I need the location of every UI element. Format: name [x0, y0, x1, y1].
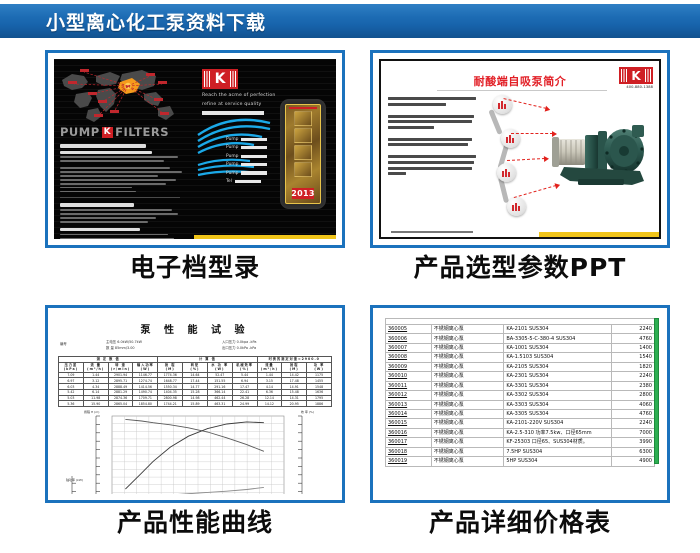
y-axis-right-label: 效 率 (%)	[301, 410, 314, 414]
table-row: 5.3615.902865.041854.801744.2115.89463.3…	[59, 401, 332, 407]
gold-plaque: 2013	[280, 99, 326, 209]
price-cell-price: 4760	[611, 409, 654, 418]
catalog-frame: PUMP K FILTERS	[45, 50, 345, 248]
catalog-image: PUMP K FILTERS	[54, 59, 336, 239]
price-cell-name: 不锈钢离心泵	[431, 343, 504, 352]
cover-bottom-accent	[194, 235, 336, 239]
page-header-banner: 小型离心化工泵资料下载	[0, 4, 700, 38]
price-cell-name: 不锈钢离心泵	[431, 372, 504, 381]
price-cell-name: 不锈钢离心泵	[431, 447, 504, 456]
price-cell-name: 不锈钢离心泵	[431, 334, 504, 343]
grid-cell-price[interactable]: 360005不锈钢离心泵KA-2101 SUS3042240360006不锈钢离…	[370, 305, 680, 536]
plaque-inner: 2013	[285, 104, 321, 204]
company-name-block	[60, 144, 190, 162]
feature-key: Pump	[226, 171, 238, 176]
caption-ppt: 产品选型参数PPT	[370, 255, 670, 281]
price-cell-name: 不锈钢离心泵	[431, 353, 504, 362]
table-row[interactable]: 360011不锈钢离心泵KA-3301 SUS3042380	[386, 381, 655, 390]
price-cell-name: 不锈钢离心泵	[431, 419, 504, 428]
price-cell-code: 360017	[386, 438, 432, 447]
k-logo-icon: K	[202, 69, 238, 89]
price-cell-code: 360010	[386, 372, 432, 381]
feature-key: Tel	[226, 179, 232, 184]
price-cell-spec: KA-2.5-310 功率7.5kw、口径65mm	[504, 428, 612, 437]
chart-icon	[501, 129, 520, 148]
chart-icon	[497, 163, 516, 182]
table-cell: 1744.21	[158, 401, 183, 407]
table-cell: 1886	[307, 401, 332, 407]
price-cell-name: 不锈钢离心泵	[431, 438, 504, 447]
feature-value	[241, 138, 267, 141]
price-cell-name: 不锈钢离心泵	[431, 325, 504, 334]
price-table-body: 360005不锈钢离心泵KA-2101 SUS3042240360006不锈钢离…	[386, 325, 655, 467]
price-cell-code: 360015	[386, 419, 432, 428]
list-item: Tel	[226, 179, 267, 184]
feature-value	[241, 146, 267, 149]
caption-price: 产品详细价格表	[370, 510, 670, 536]
branch-block-2	[60, 228, 190, 239]
plaque-char	[294, 111, 312, 126]
ppt-text-block	[388, 97, 476, 106]
price-cell-name: 不锈钢离心泵	[431, 400, 504, 409]
table-row[interactable]: 360013不锈钢离心泵KA-3303 SUS3044060	[386, 400, 655, 409]
arrow-2	[511, 133, 553, 134]
price-cell-price: 4760	[611, 334, 654, 343]
col-header-4: 扬 程(M)	[158, 362, 183, 372]
price-cell-code: 360016	[386, 428, 432, 437]
feature-value	[241, 163, 267, 166]
list-item: Pump	[226, 145, 267, 150]
price-cell-price: 4900	[611, 457, 654, 466]
price-cell-spec: KA-1.5103 SUS304	[504, 353, 612, 362]
cover-feature-list: Pump Pump Pump Pump Pump Tel	[226, 137, 267, 187]
col-header-1: 流 量(m³/h)	[83, 362, 108, 372]
performance-image: 泵 性 能 试 验 编号 主电压 6.0kW/50.7kW 数 量 85mm/3…	[54, 314, 336, 494]
price-cell-code: 360011	[386, 381, 432, 390]
price-cell-price: 7000	[611, 428, 654, 437]
meta-right-2: 出口压力 0.0kPa -kPa	[222, 345, 256, 350]
caption-performance: 产品性能曲线	[45, 510, 345, 536]
price-cell-price: 6300	[611, 447, 654, 456]
meta-mid-1: 主电压 6.0kW/50.7kW	[106, 339, 142, 344]
page-title: 小型离心化工泵资料下载	[46, 8, 266, 35]
feature-key: Pump	[226, 162, 238, 167]
price-sheet: 360005不锈钢离心泵KA-2101 SUS3042240360006不锈钢离…	[379, 314, 661, 494]
ppt-footer-text	[391, 231, 473, 233]
performance-graph: 扬程 H (m) 效 率 (%) 轴功率 (kW)	[54, 410, 336, 494]
price-cell-spec: KA-2101 SUS304	[504, 325, 612, 334]
price-cell-spec: KA-3303 SUS304	[504, 400, 612, 409]
price-cell-name: 不锈钢离心泵	[431, 409, 504, 418]
price-cell-spec: 5HP SUS304	[504, 457, 612, 466]
price-cell-code: 360007	[386, 343, 432, 352]
table-row[interactable]: 360010不锈钢离心泵KA-2301 SUS3042240	[386, 372, 655, 381]
caption-catalog: 电子档型录	[45, 255, 345, 281]
price-cell-name: 不锈钢离心泵	[431, 428, 504, 437]
feature-key: Pump	[226, 137, 238, 142]
price-cell-spec: KA-3305 SUS304	[504, 409, 612, 418]
col-header-7: 机械效率(%)	[232, 362, 257, 372]
col-header-6: 水 功 率(W)	[207, 362, 232, 372]
price-cell-price: 2240	[611, 372, 654, 381]
ppt-footer-accent	[539, 232, 659, 237]
price-frame: 360005不锈钢离心泵KA-2101 SUS3042240360006不锈钢离…	[370, 305, 670, 503]
plaque-char	[294, 162, 312, 177]
page-root: 小型离心化工泵资料下载	[0, 0, 700, 553]
y-axis-left-label: 扬程 H (m)	[84, 410, 99, 414]
list-item: Pump	[226, 162, 267, 167]
col-header-5: 转矩(%)	[183, 362, 208, 372]
price-cell-price: 2240	[611, 419, 654, 428]
table-row[interactable]: 360006不锈钢离心泵BA-3305-5-C-380-4 SUS3044760	[386, 334, 655, 343]
feature-value	[235, 180, 261, 183]
performance-plot	[54, 410, 336, 494]
price-cell-price: 2380	[611, 381, 654, 390]
table-cell: 2865.04	[108, 401, 133, 407]
price-image: 360005不锈钢离心泵KA-2101 SUS3042240360006不锈钢离…	[379, 314, 661, 494]
price-cell-code: 360005	[386, 325, 432, 334]
price-cell-price: 3990	[611, 438, 654, 447]
table-row[interactable]: 360008不锈钢离心泵KA-1.5103 SUS3041540	[386, 353, 655, 362]
table-row[interactable]: 360015不锈钢离心泵KA-2101-220V SUS3042240	[386, 419, 655, 428]
branch-block-1	[60, 203, 190, 222]
table-row[interactable]: 360009不锈钢离心泵KA-2105 SUS3041820	[386, 362, 655, 371]
price-cell-price: 2240	[611, 325, 654, 334]
performance-title: 泵 性 能 试 验	[54, 314, 336, 336]
col-header-0: 压力差(kPa)	[59, 362, 84, 372]
price-cell-spec: KA-3302 SUS304	[504, 391, 612, 400]
performance-data-table: 测 定 数 值 计 算 值 时换的测定对速≈2900.0 压力差(kPa)流 量…	[58, 356, 332, 407]
col-header-8: 流量(m³/h)	[257, 362, 282, 372]
table-row[interactable]: 360017不锈钢离心泵KF-25303 口径65、SUS304材质。3990	[386, 438, 655, 447]
k-logo-icon: K	[619, 67, 653, 84]
price-cell-price: 4060	[611, 400, 654, 409]
price-cell-name: 不锈钢离心泵	[431, 391, 504, 400]
col-header-3: 输入功率(W)	[133, 362, 158, 372]
k-logo-letter: K	[215, 72, 226, 86]
scrollbar-thumb[interactable]	[654, 318, 659, 464]
price-cell-code: 360006	[386, 334, 432, 343]
performance-meta: 编号 主电压 6.0kW/50.7kW 数 量 85mm/3.00 入口压力 0…	[54, 339, 336, 355]
ppt-text-block	[388, 115, 476, 129]
feature-value	[241, 171, 267, 174]
ppt-frame: 耐酸端自吸泵简介 K 400-880-1388	[370, 50, 670, 248]
ppt-text-block	[388, 138, 476, 147]
meta-mid-2: 数 量 85mm/3.00	[106, 345, 135, 350]
price-cell-price: 1820	[611, 362, 654, 371]
table-row[interactable]: 360016不锈钢离心泵KA-2.5-310 功率7.5kw、口径65mm700…	[386, 428, 655, 437]
meta-right-1: 入口压力 0.0kpa -kPa	[222, 339, 256, 344]
grid-cell-ppt[interactable]: 耐酸端自吸泵简介 K 400-880-1388	[370, 50, 680, 281]
grid-cell-catalog[interactable]: PUMP K FILTERS	[45, 50, 355, 281]
ppt-slide-title: 耐酸端自吸泵简介	[381, 73, 659, 89]
pump-product-photo	[548, 123, 653, 195]
table-sub-header-row: 压力差(kPa)流 量(m³/h)转 速(r/min)输入功率(W)扬 程(M)…	[59, 362, 332, 372]
address-block	[60, 167, 190, 193]
list-item: Pump	[226, 154, 267, 159]
table-row[interactable]: 360012不锈钢离心泵KA-3302 SUS3042800	[386, 391, 655, 400]
k-logo-letter: K	[631, 70, 640, 82]
list-item: Pump	[226, 137, 267, 142]
feature-value	[241, 155, 267, 158]
title-underline	[437, 90, 607, 91]
table-cell: 5.36	[59, 401, 84, 407]
product-materials-grid: PUMP K FILTERS	[0, 44, 700, 553]
performance-frame: 泵 性 能 试 验 编号 主电压 6.0kW/50.7kW 数 量 85mm/3…	[45, 305, 345, 503]
col-header-2: 转 速(r/min)	[108, 362, 133, 372]
y-axis-left2-label: 轴功率 (kW)	[66, 478, 83, 482]
price-cell-code: 360018	[386, 447, 432, 456]
hotline-number: 400-880-1388	[626, 85, 653, 89]
wordmark-k-icon: K	[102, 127, 113, 138]
table-cell: 15.90	[83, 401, 108, 407]
ppt-text-block	[388, 155, 476, 175]
table-row[interactable]: 360019不锈钢离心泵5HP SUS3044900	[386, 457, 655, 466]
table-row[interactable]: 360014不锈钢离心泵KA-3305 SUS3044760	[386, 409, 655, 418]
wordmark-pump: PUMP	[60, 125, 100, 139]
price-cell-spec: BA-3305-5-C-380-4 SUS304	[504, 334, 612, 343]
price-cell-code: 360012	[386, 391, 432, 400]
world-map-graphic	[58, 64, 178, 126]
price-cell-price: 1400	[611, 343, 654, 352]
performance-sheet: 泵 性 能 试 验 编号 主电压 6.0kW/50.7kW 数 量 85mm/3…	[54, 314, 336, 494]
plaque-char	[294, 128, 312, 143]
list-item: Pump	[226, 171, 267, 176]
catalog-cover: PUMP K FILTERS	[54, 59, 336, 239]
price-cell-code: 360019	[386, 457, 432, 466]
table-row[interactable]: 360005不锈钢离心泵KA-2101 SUS3042240	[386, 325, 655, 334]
price-cell-spec: KA-1001 SUS304	[504, 343, 612, 352]
price-cell-spec: KA-2301 SUS304	[504, 372, 612, 381]
table-row[interactable]: 360007不锈钢离心泵KA-1001 SUS3041400	[386, 343, 655, 352]
meta-left: 编号	[60, 341, 67, 346]
price-cell-spec: 7.5HP SUS304	[504, 447, 612, 456]
chart-icon	[507, 197, 526, 216]
price-cell-code: 360013	[386, 400, 432, 409]
table-cell: 463.31	[207, 401, 232, 407]
price-cell-name: 不锈钢离心泵	[431, 457, 504, 466]
price-cell-code: 360009	[386, 362, 432, 371]
table-row[interactable]: 360018不锈钢离心泵7.5HP SUS3046300	[386, 447, 655, 456]
slogan-cn	[202, 111, 264, 115]
table-cell: 24.99	[232, 401, 257, 407]
cover-company-info: PUMP K FILTERS	[60, 125, 190, 239]
grid-cell-performance[interactable]: 泵 性 能 试 验 编号 主电压 6.0kW/50.7kW 数 量 85mm/3…	[45, 305, 355, 536]
performance-table-body: 7.091.442901.941146.771774.3614.6452.475…	[59, 372, 332, 407]
price-cell-code: 360008	[386, 353, 432, 362]
col-header-10: 功 率(W)	[307, 362, 332, 372]
price-cell-price: 2800	[611, 391, 654, 400]
ppt-text-column	[388, 97, 476, 184]
pump-filters-wordmark: PUMP K FILTERS	[60, 125, 190, 139]
price-cell-name: 不锈钢离心泵	[431, 362, 504, 371]
plaque-year-badge: 2013	[292, 188, 314, 199]
price-list-table: 360005不锈钢离心泵KA-2101 SUS3042240360006不锈钢离…	[385, 324, 655, 467]
ppt-slide: 耐酸端自吸泵简介 K 400-880-1388	[379, 59, 661, 239]
table-cell: 1854.80	[133, 401, 158, 407]
price-cell-code: 360014	[386, 409, 432, 418]
price-cell-name: 不锈钢离心泵	[431, 381, 504, 390]
price-cell-spec: KA-2105 SUS304	[504, 362, 612, 371]
table-cell: 20.95	[282, 401, 307, 407]
table-cell: 15.89	[183, 401, 208, 407]
col-header-9: 扬程(M)	[282, 362, 307, 372]
plaque-char	[294, 145, 312, 160]
price-cell-spec: KF-25303 口径65、SUS304材质。	[504, 438, 612, 447]
ppt-image: 耐酸端自吸泵简介 K 400-880-1388	[379, 59, 661, 239]
price-cell-price: 1540	[611, 353, 654, 362]
table-cell: 14.12	[257, 401, 282, 407]
feature-key: Pump	[226, 145, 238, 150]
feature-key: Pump	[226, 154, 238, 159]
wordmark-filters: FILTERS	[115, 125, 169, 139]
divider-1	[60, 197, 180, 198]
price-cell-spec: KA-2101-220V SUS304	[504, 419, 612, 428]
slogan-en-line1: Reach the acme of perfection	[202, 93, 294, 98]
price-cell-spec: KA-3301 SUS304	[504, 381, 612, 390]
